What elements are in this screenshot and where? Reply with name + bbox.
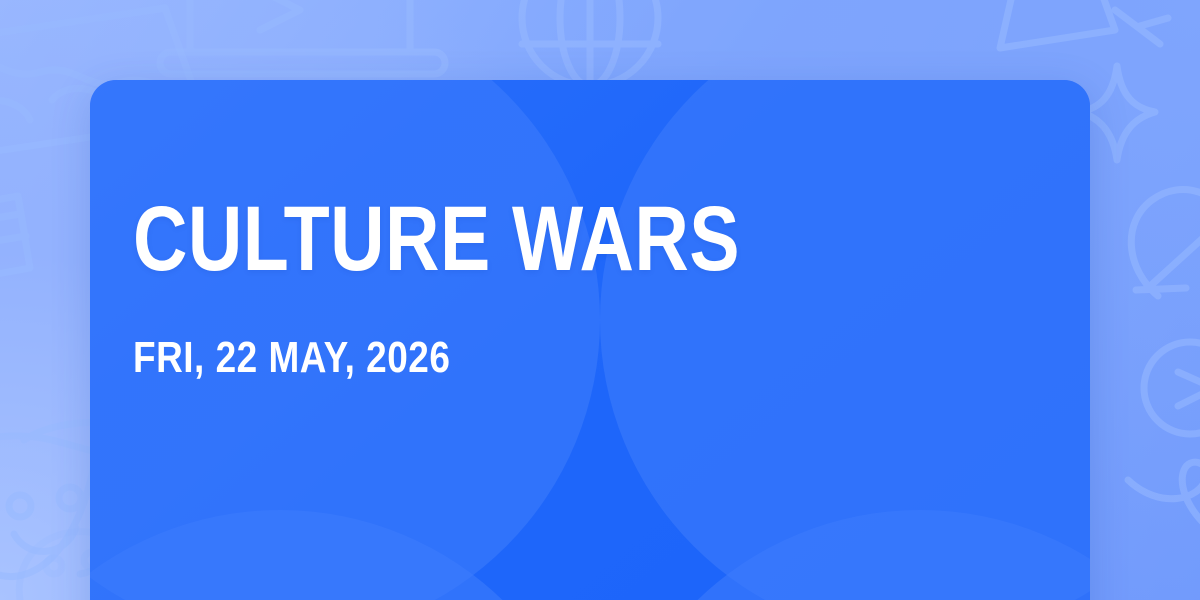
globe-icon (522, 0, 658, 86)
microphone-icon (1131, 189, 1200, 296)
easel-icon (1000, 0, 1168, 48)
event-date: Fri, 22 May, 2026 (133, 336, 450, 380)
event-title: Culture Wars (133, 202, 740, 277)
laptop-icon (160, 0, 445, 74)
sparkle-icon (1080, 66, 1155, 160)
event-banner: Culture Wars Fri, 22 May, 2026 (0, 0, 1200, 600)
card-content: Culture Wars Fri, 22 May, 2026 (133, 80, 1050, 600)
book-icon (0, 196, 30, 282)
music-note-icon (1128, 342, 1200, 538)
event-card: Culture Wars Fri, 22 May, 2026 (90, 80, 1090, 600)
